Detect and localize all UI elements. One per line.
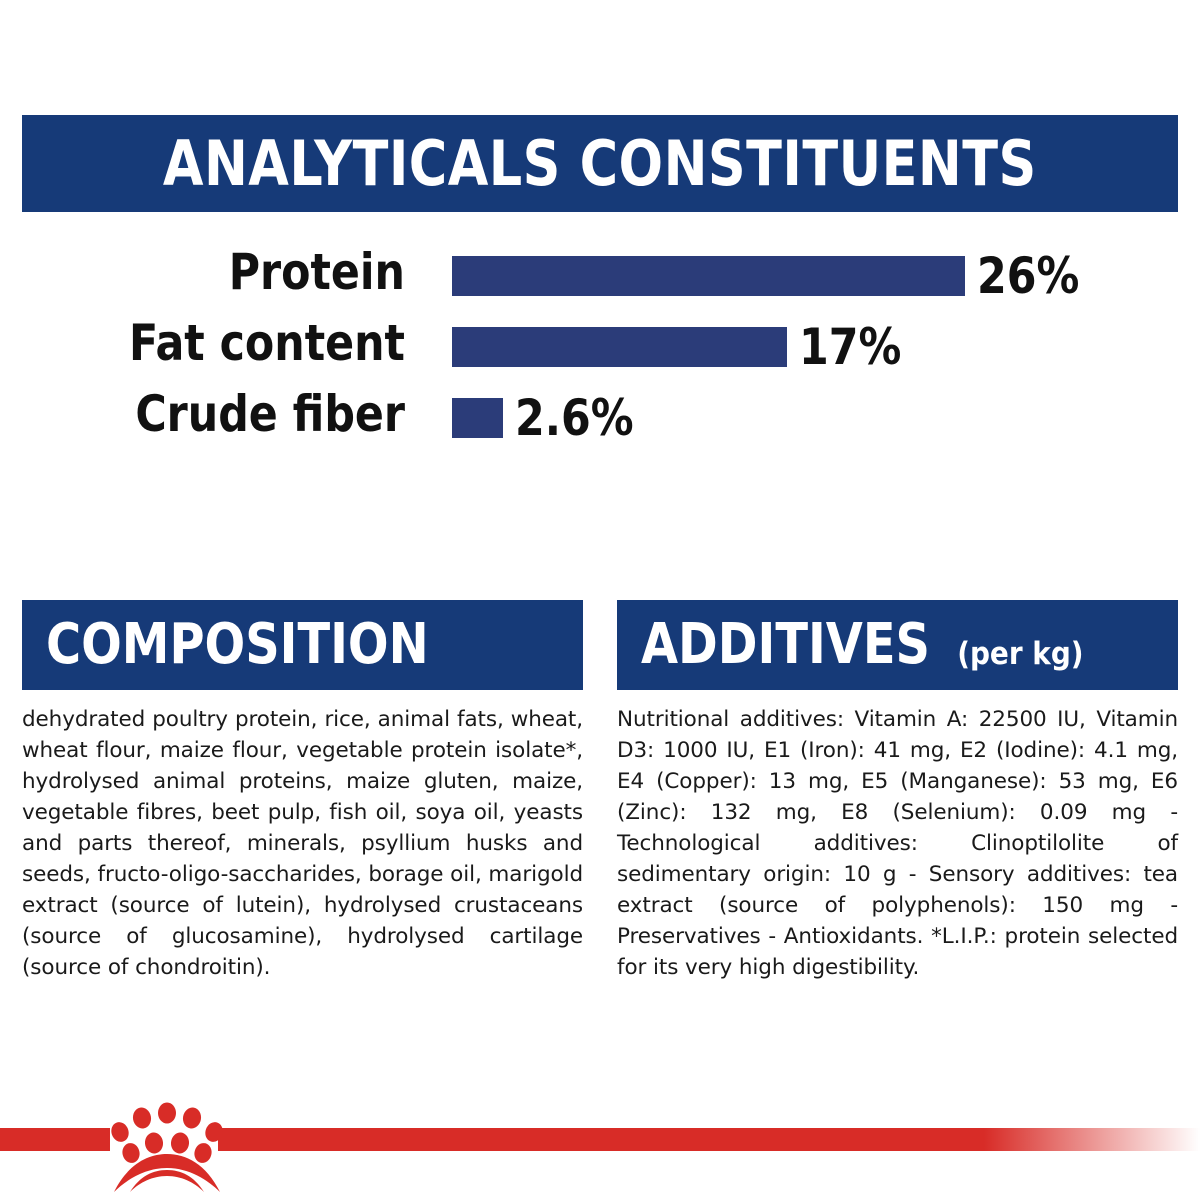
chart-label-fat-content: Fat content bbox=[63, 317, 405, 369]
additives-subheading: (per kg) bbox=[957, 639, 1083, 687]
chart-value-fat-content: 17% bbox=[799, 327, 901, 367]
composition-heading: COMPOSITION bbox=[46, 617, 429, 673]
chart-track-fat-content: 17% bbox=[452, 327, 907, 367]
analytical-constituents-chart: Protein 26% Fat content 17% Crude fiber … bbox=[0, 246, 1200, 459]
composition-column: COMPOSITION dehydrated poultry protein, … bbox=[22, 600, 583, 983]
royal-canin-crown-icon bbox=[104, 1096, 230, 1194]
page-title: ANALYTICALS CONSTITUENTS bbox=[163, 133, 1037, 195]
analytical-constituents-banner: ANALYTICALS CONSTITUENTS bbox=[22, 115, 1178, 212]
footer-rule-left bbox=[0, 1128, 110, 1151]
composition-text: dehydrated poultry protein, rice, animal… bbox=[22, 704, 583, 983]
chart-value-protein: 26% bbox=[977, 256, 1079, 296]
chart-track-protein: 26% bbox=[452, 256, 1085, 296]
chart-label-crude-fiber: Crude fiber bbox=[63, 388, 405, 440]
composition-banner: COMPOSITION bbox=[22, 600, 583, 690]
footer-rule-right bbox=[218, 1128, 1200, 1151]
chart-bar-fat-content bbox=[452, 327, 787, 367]
chart-row-fat-content: Fat content 17% bbox=[0, 317, 1200, 388]
additives-text: Nutritional additives: Vitamin A: 22500 … bbox=[617, 704, 1178, 983]
footer bbox=[0, 1090, 1200, 1200]
additives-column: ADDITIVES (per kg) Nutritional additives… bbox=[617, 600, 1178, 983]
detail-columns: COMPOSITION dehydrated poultry protein, … bbox=[22, 600, 1178, 983]
additives-banner: ADDITIVES (per kg) bbox=[617, 600, 1178, 690]
chart-label-protein: Protein bbox=[63, 246, 405, 298]
nutrition-label-page: ANALYTICALS CONSTITUENTS Protein 26% Fat… bbox=[0, 0, 1200, 1200]
chart-bar-crude-fiber bbox=[452, 398, 503, 438]
chart-row-crude-fiber: Crude fiber 2.6% bbox=[0, 388, 1200, 459]
additives-heading: ADDITIVES bbox=[641, 617, 930, 673]
chart-row-protein: Protein 26% bbox=[0, 246, 1200, 317]
chart-track-crude-fiber: 2.6% bbox=[452, 398, 640, 438]
chart-value-crude-fiber: 2.6% bbox=[515, 398, 634, 438]
chart-bar-protein bbox=[452, 256, 965, 296]
